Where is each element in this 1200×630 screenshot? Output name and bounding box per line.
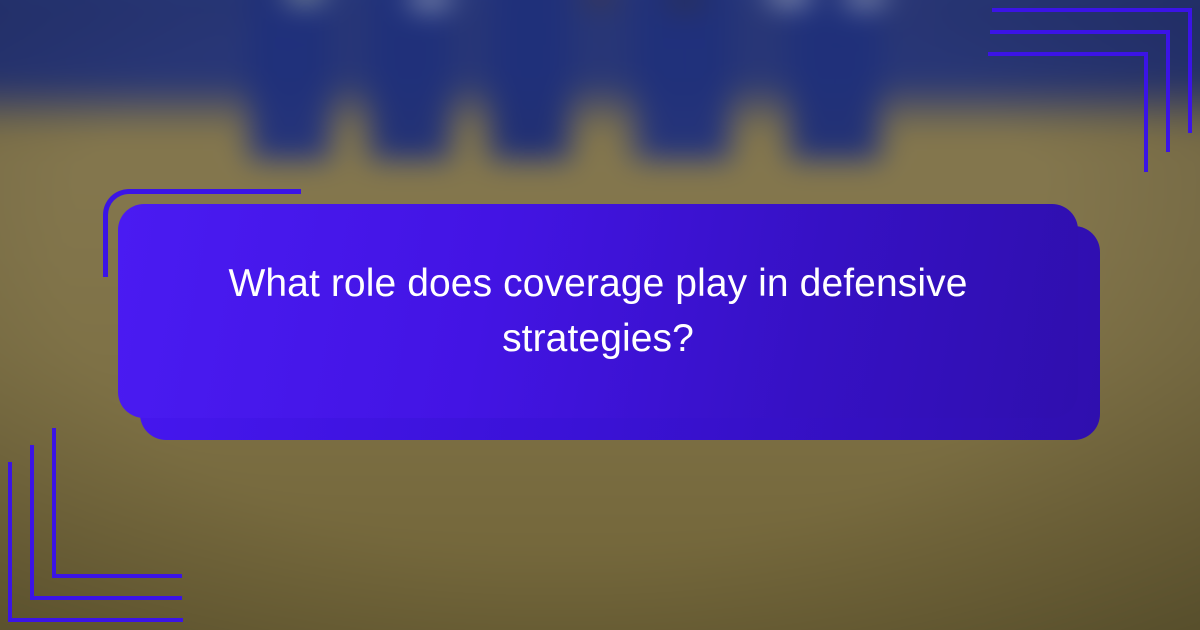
question-card: What role does coverage play in defensiv… [118,204,1078,418]
share-card-canvas: What role does coverage play in defensiv… [0,0,1200,630]
question-text: What role does coverage play in defensiv… [218,256,978,367]
corner-bracket-top-right-inner [988,52,1148,172]
corner-bracket-bottom-left-inner [52,428,182,578]
